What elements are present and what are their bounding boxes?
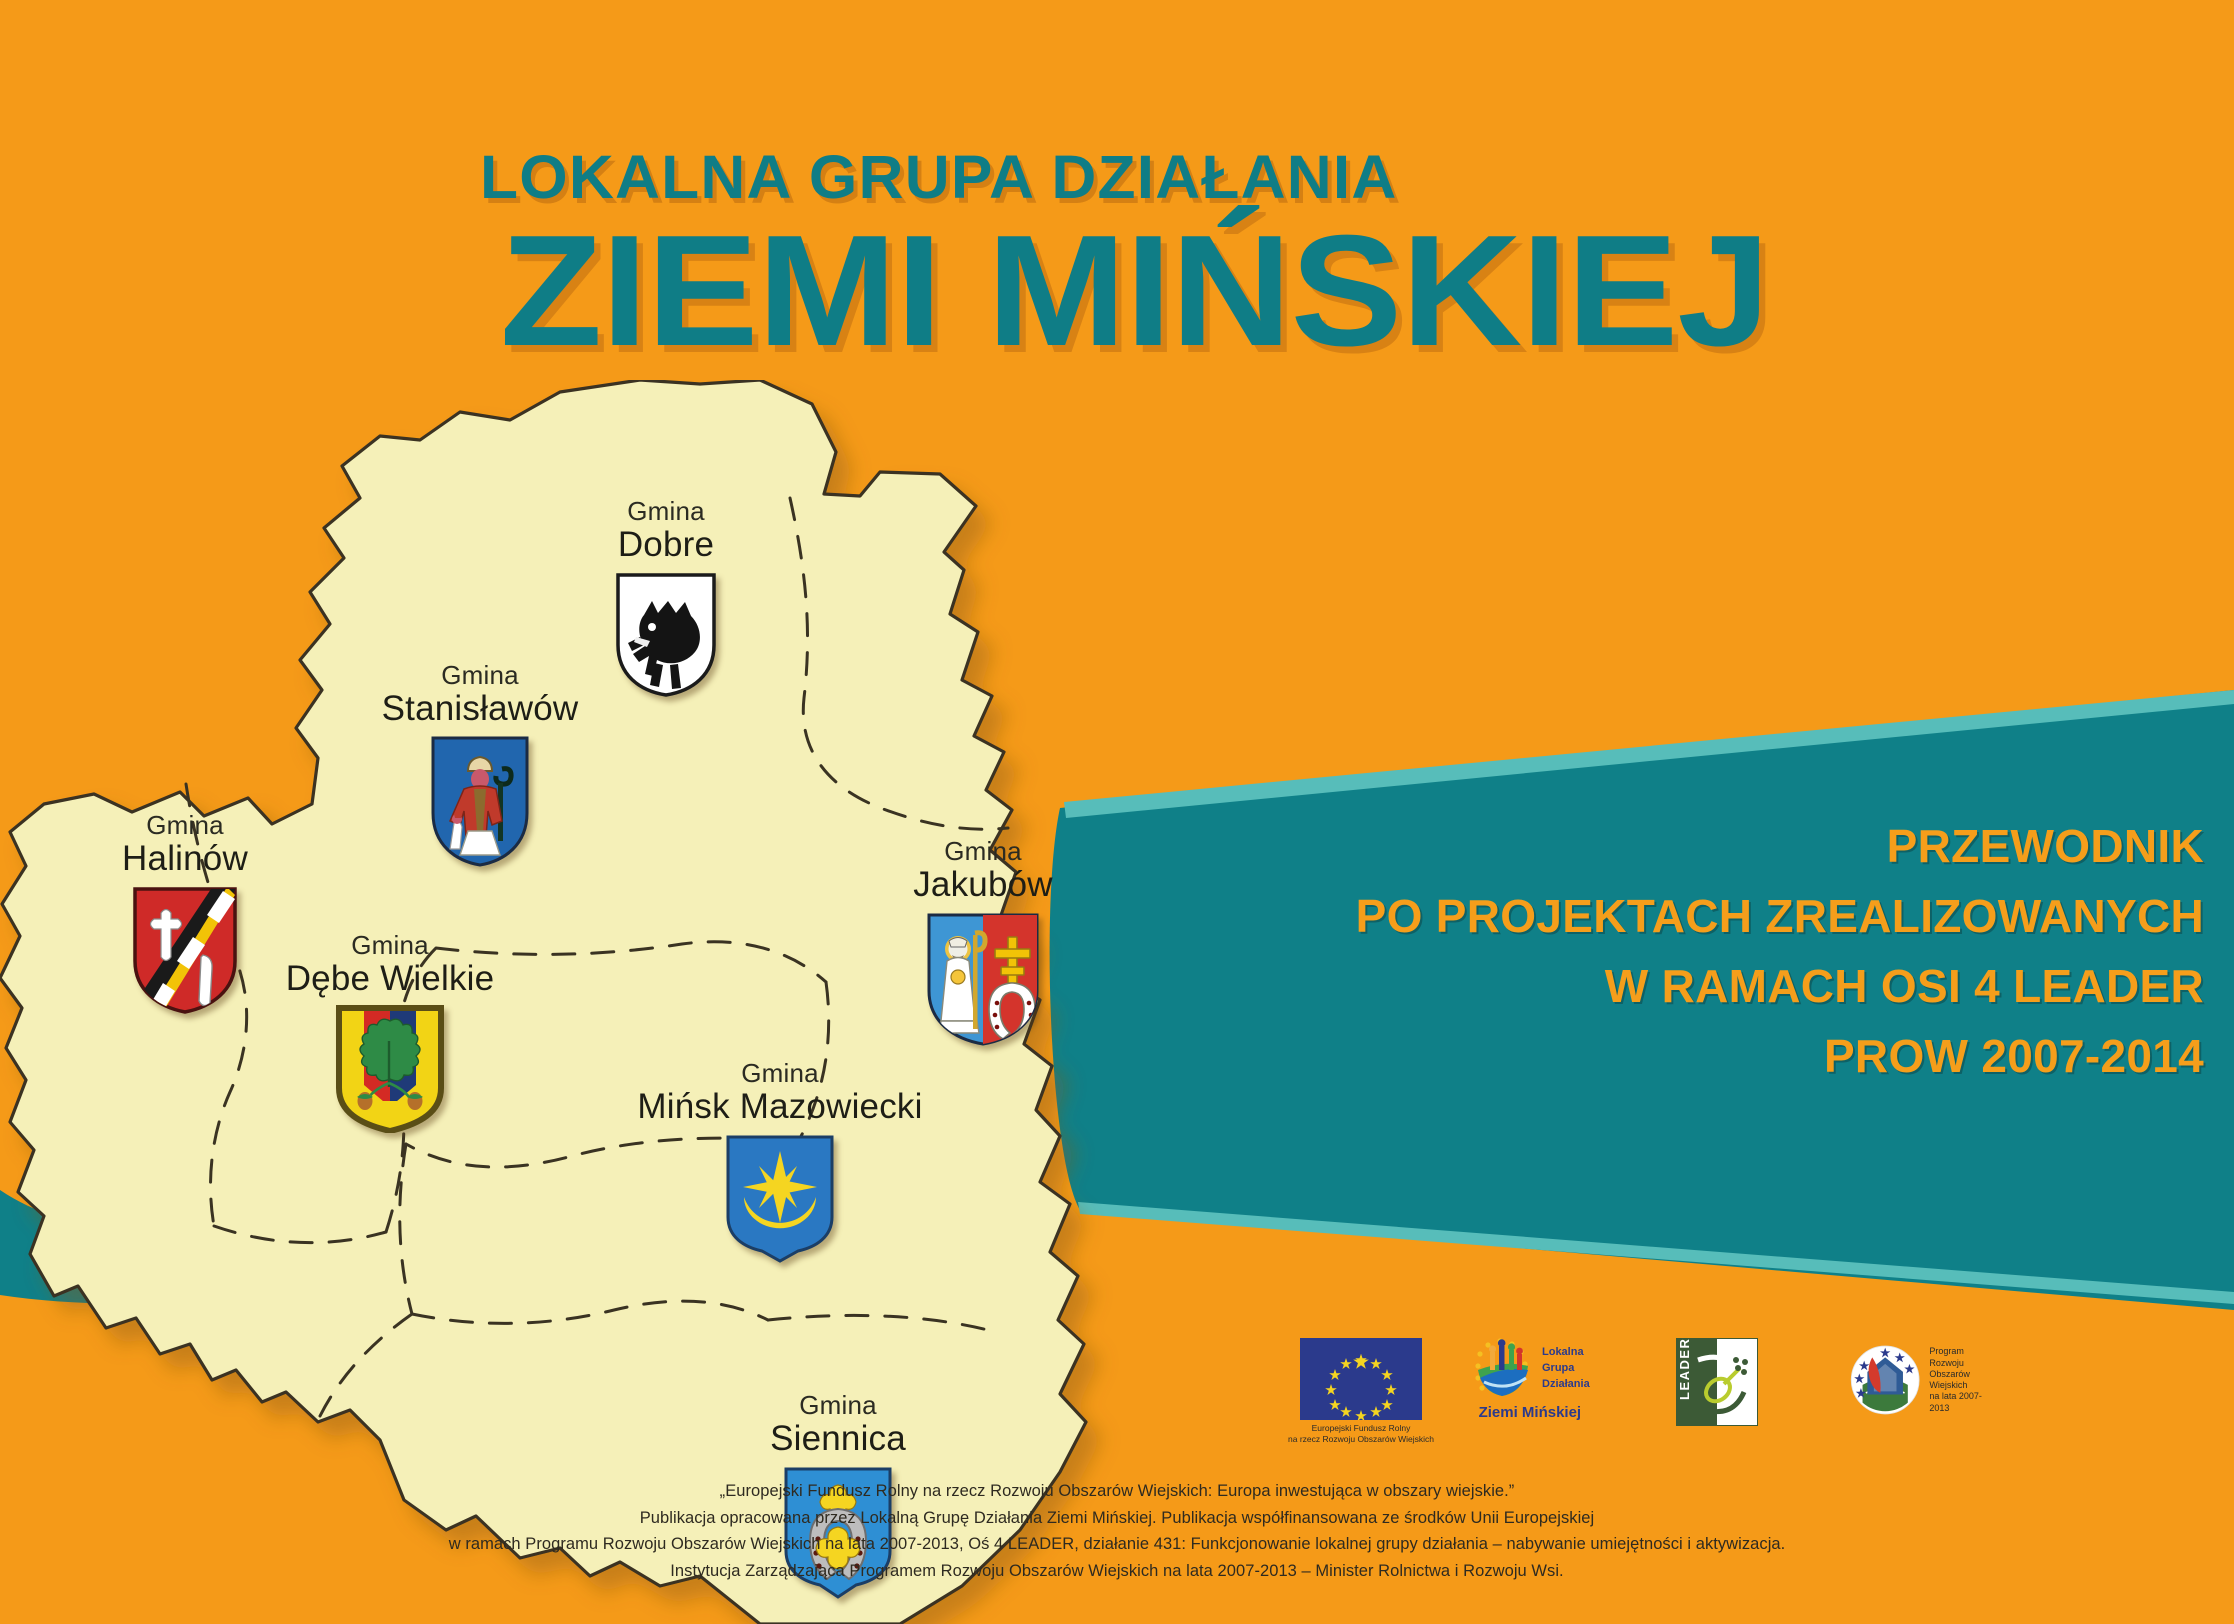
gmina-name-jakubow: Jakubów — [868, 865, 1098, 905]
crest-jakubow — [868, 911, 1098, 1052]
prow-caption: Program Rozwoju Obszarów Wiejskich na la… — [1929, 1346, 1988, 1414]
lgd-text-2: Grupa — [1542, 1361, 1590, 1377]
prow-logo: Program Rozwoju Obszarów Wiejskich na la… — [1848, 1334, 1988, 1426]
leader-logo: LEADER — [1676, 1338, 1758, 1426]
logo-strip: Europejski Fundusz Rolny na rzecz Rozwoj… — [1288, 1330, 1988, 1442]
poster-root: LOKALNA GRUPA DZIAŁANIA ZIEMI MIŃSKIEJ — [0, 0, 2234, 1624]
gmina-name-minsk-mazowiecki: Mińsk Mazowiecki — [615, 1087, 945, 1127]
promo-line-3: W RAMACH OSI 4 LEADER — [1104, 952, 2204, 1022]
gmina-prefix-label: Gmina — [350, 662, 610, 689]
gmina-name-stanislawow: Stanisławów — [350, 689, 610, 729]
title-kicker: LOKALNA GRUPA DZIAŁANIA — [480, 142, 1398, 212]
gmina-name-halinow: Halinów — [65, 839, 305, 879]
footer-line-1: „Europejski Fundusz Rolny na rzecz Rozwo… — [0, 1478, 2234, 1505]
prow-emblem-icon — [1848, 1334, 1922, 1426]
lgd-text-1: Lokalna — [1542, 1345, 1590, 1361]
page-title: ZIEMI MIŃSKIEJ — [500, 212, 1769, 370]
gmina-name-siennica: Siennica — [718, 1419, 958, 1459]
gmina-prefix-label: Gmina — [868, 838, 1098, 865]
gmina-prefix-label: Gmina — [718, 1392, 958, 1419]
footer-line-4: Instytucja Zarządzająca Programem Rozwoj… — [0, 1558, 2234, 1585]
leader-emblem-icon: LEADER — [1676, 1338, 1758, 1426]
gmina-prefix-label: Gmina — [245, 932, 535, 959]
eu-flag-icon — [1300, 1338, 1422, 1420]
gmina-prefix-label: Gmina — [615, 1060, 945, 1087]
crest-minsk-mazowiecki — [615, 1133, 945, 1268]
gmina-marker-stanislawow[interactable]: Gmina Stanisławów — [350, 662, 610, 872]
lgd-emblem-icon — [1470, 1336, 1536, 1402]
title-block: LOKALNA GRUPA DZIAŁANIA ZIEMI MIŃSKIEJ — [0, 0, 2234, 430]
footer-line-2: Publikacja opracowana przez Lokalną Grup… — [0, 1505, 2234, 1532]
gmina-prefix-label: Gmina — [556, 498, 776, 525]
promo-line-1: PRZEWODNIK — [1104, 812, 2204, 882]
gmina-name-dobre: Dobre — [556, 525, 776, 565]
lgd-text-4: Ziemi Mińskiej — [1479, 1404, 1582, 1421]
lgd-logo: Lokalna Grupa Działania Ziemi Mińskiej — [1470, 1336, 1590, 1421]
gmina-marker-jakubow[interactable]: Gmina Jakubów — [868, 838, 1098, 1052]
eu-flag-logo: Europejski Fundusz Rolny na rzecz Rozwoj… — [1288, 1338, 1434, 1444]
eu-flag-caption: Europejski Fundusz Rolny na rzecz Rozwoj… — [1288, 1423, 1434, 1444]
gmina-prefix-label: Gmina — [65, 812, 305, 839]
crest-stanislawow — [350, 735, 610, 872]
gmina-marker-debe-wielkie[interactable]: Gmina Dębe Wielkie — [245, 932, 535, 1138]
footer-disclaimer: „Europejski Fundusz Rolny na rzecz Rozwo… — [0, 1478, 2234, 1585]
svg-text:LEADER: LEADER — [1677, 1338, 1692, 1400]
promo-headline: PRZEWODNIK PO PROJEKTACH ZREALIZOWANYCH … — [1104, 812, 2204, 1092]
promo-line-2: PO PROJEKTACH ZREALIZOWANYCH — [1104, 882, 2204, 952]
gmina-name-debe-wielkie: Dębe Wielkie — [245, 959, 535, 999]
gmina-marker-minsk-mazowiecki[interactable]: Gmina Mińsk Mazowiecki — [615, 1060, 945, 1268]
crest-debe-wielkie — [245, 1005, 535, 1138]
footer-line-3: w ramach Programu Rozwoju Obszarów Wiejs… — [0, 1531, 2234, 1558]
promo-line-4: PROW 2007-2014 — [1104, 1022, 2204, 1092]
lgd-text-3: Działania — [1542, 1377, 1590, 1393]
